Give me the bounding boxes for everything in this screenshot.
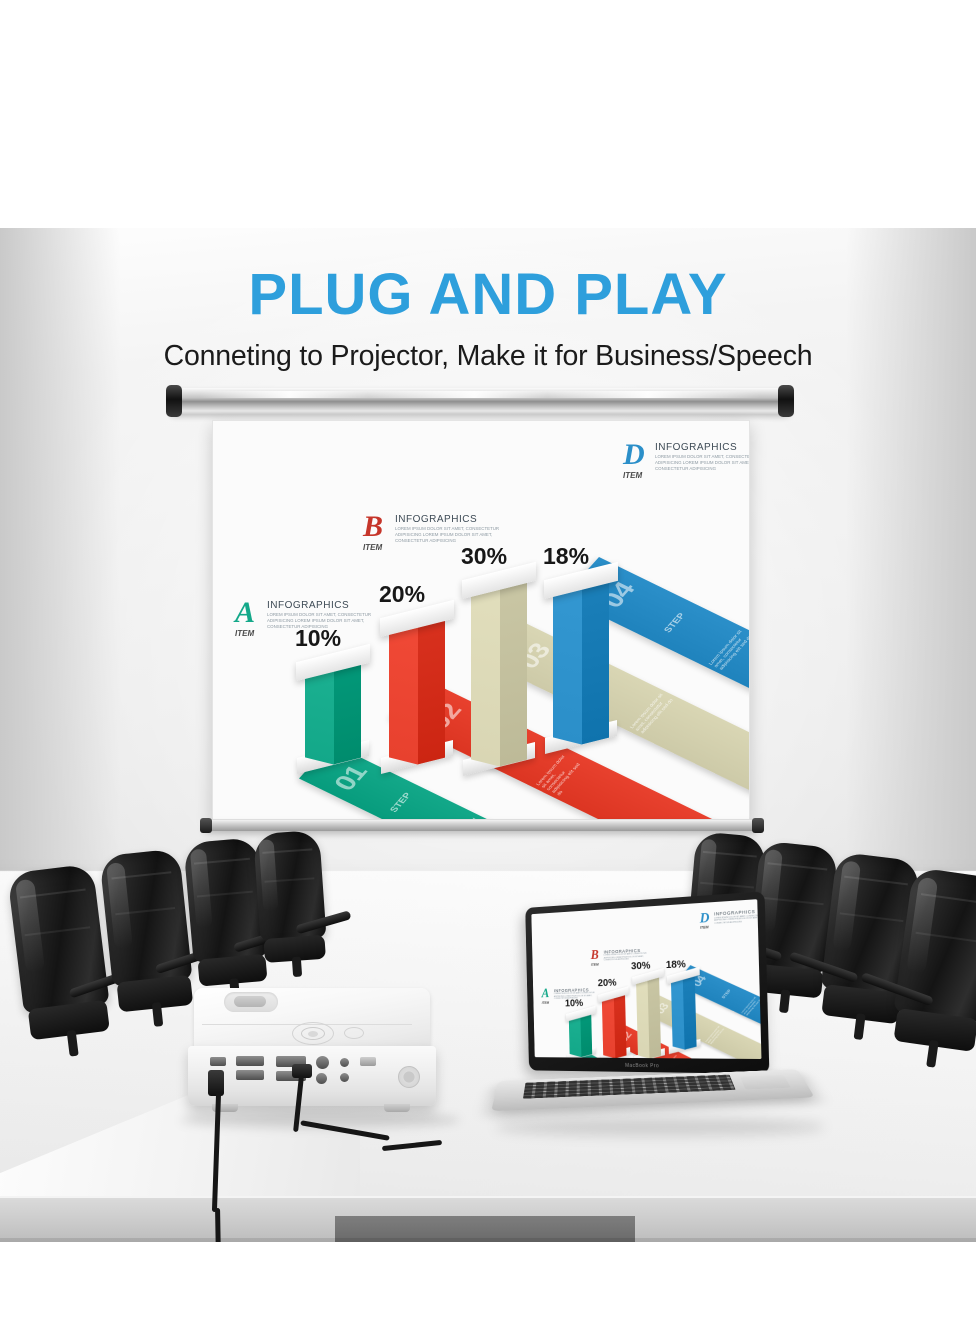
column-face-side — [614, 994, 627, 1058]
callout-letter: D — [700, 911, 710, 924]
roller-bar — [170, 388, 790, 414]
projector-menu-button[interactable] — [344, 1027, 364, 1039]
column-face-side — [334, 662, 361, 765]
roller-gloss — [200, 391, 760, 398]
infographic-on-laptop: 01STEPLorem ipsum dolor sit amet, consec… — [531, 899, 761, 1059]
bar-column-B — [602, 995, 626, 1056]
callout-letter: B — [591, 949, 599, 961]
column-face-side — [581, 1014, 593, 1058]
step-label: STEP — [719, 989, 731, 1000]
bar-column-D — [553, 583, 609, 741]
port-lan[interactable] — [360, 1057, 376, 1066]
bottom-white-band — [0, 1242, 976, 1331]
page-subtitle: Conneting to Projector, Make it for Busi… — [0, 340, 976, 373]
screen-bottom-cap-left — [200, 818, 212, 833]
port-hdmi[interactable] — [210, 1057, 226, 1066]
column-face-front — [553, 579, 582, 744]
callout-b: BITEMINFOGRAPHICSLOREM IPSUM DOLOR SIT A… — [363, 513, 523, 563]
roller-end-cap-right — [778, 385, 794, 417]
column-face-side — [582, 580, 609, 745]
port-vga-1[interactable] — [236, 1056, 264, 1066]
value-label-18pct: 18% — [666, 959, 686, 971]
callout-item-label: ITEM — [591, 962, 599, 966]
port-vga-2[interactable] — [236, 1070, 264, 1080]
projector-speaker — [398, 1066, 420, 1088]
callout-item-label: ITEM — [363, 543, 382, 552]
projection-screen-surface: 01STEPLorem ipsum dolor sit amet, consec… — [212, 420, 750, 820]
chair-backrest — [7, 863, 109, 1013]
bar-column-C — [636, 978, 662, 1058]
projector-power-button[interactable] — [308, 1031, 318, 1037]
port-audio-out[interactable] — [340, 1073, 349, 1082]
callout-body: LOREM IPSUM DOLOR SIT AMET, CONSECTETUR … — [554, 992, 598, 1001]
laptop-brand-label: MacBook Pro — [529, 1062, 769, 1071]
column-face-side — [683, 975, 697, 1049]
top-white-band — [0, 0, 976, 228]
projector-lens — [234, 996, 266, 1007]
column-face-side — [500, 580, 527, 767]
screen-bottom-bar — [204, 820, 758, 831]
callout-item-label: ITEM — [542, 1000, 549, 1004]
screen-bottom-cap-right — [752, 818, 764, 833]
callout-d: DITEMINFOGRAPHICSLOREM IPSUM DOLOR SIT A… — [700, 907, 762, 934]
step-body-text: Lorem ipsum dolor sit amet, consectetur … — [741, 996, 762, 1015]
callout-heading: INFOGRAPHICS — [395, 514, 477, 525]
callout-letter: D — [623, 441, 645, 468]
laptop-lid: 01STEPLorem ipsum dolor sit amet, consec… — [525, 891, 769, 1074]
callout-item-label: ITEM — [235, 629, 254, 638]
port-composite[interactable] — [316, 1073, 327, 1084]
laptop-screen[interactable]: 01STEPLorem ipsum dolor sit amet, consec… — [531, 899, 761, 1059]
projector-foot-right — [384, 1104, 410, 1112]
chair-highlight — [906, 876, 939, 974]
laptop-base — [491, 1069, 814, 1111]
column-face-front — [471, 579, 500, 766]
headline-block: PLUG AND PLAY Conneting to Projector, Ma… — [0, 266, 976, 373]
bar-column-D — [670, 977, 696, 1048]
callout-body: LOREM IPSUM DOLOR SIT AMET, CONSECTETUR … — [655, 454, 750, 472]
callout-body: LOREM IPSUM DOLOR SIT AMET, CONSECTETUR … — [604, 953, 651, 963]
roller-end-cap-left — [166, 385, 182, 417]
laptop-keyboard[interactable] — [523, 1075, 736, 1099]
conference-room-photo: PLUG AND PLAY Conneting to Projector, Ma… — [0, 228, 976, 1242]
callout-heading: INFOGRAPHICS — [655, 442, 737, 453]
chair-highlight — [832, 861, 861, 953]
callout-heading: INFOGRAPHICS — [267, 600, 349, 611]
bar-column-C — [471, 583, 527, 763]
step-body-text: Lorem ipsum dolor sit amet, consectetur … — [535, 752, 590, 797]
step-label: STEP — [662, 611, 687, 634]
step-body-text: Lorem ipsum dolor sit amet, consectetur … — [705, 1026, 726, 1045]
step-body-text: Lorem ipsum dolor sit amet, consectetur … — [708, 630, 750, 672]
column-face-side — [418, 618, 445, 765]
bar-column-A — [569, 1015, 592, 1056]
callout-d: DITEMINFOGRAPHICSLOREM IPSUM DOLOR SIT A… — [623, 441, 750, 491]
column-face-side — [648, 976, 661, 1059]
projector — [188, 988, 436, 1118]
value-label-18pct: 18% — [543, 543, 589, 570]
callout-a: AITEMINFOGRAPHICSLOREM IPSUM DOLOR SIT A… — [541, 986, 604, 1009]
laptop-trackpad[interactable] — [740, 1075, 791, 1089]
callout-a: AITEMINFOGRAPHICSLOREM IPSUM DOLOR SIT A… — [235, 599, 395, 649]
laptop: 01STEPLorem ipsum dolor sit amet, consec… — [505, 900, 805, 1150]
page-title: PLUG AND PLAY — [0, 266, 976, 324]
bar-column-A — [305, 665, 361, 761]
callout-letter: B — [363, 513, 383, 540]
infographic-projected: 01STEPLorem ipsum dolor sit amet, consec… — [213, 421, 749, 819]
product-marketing-image: PLUG AND PLAY Conneting to Projector, Ma… — [0, 0, 976, 1331]
callout-item-label: ITEM — [623, 471, 642, 480]
step-body-text: Lorem ipsum dolor sit amet, consectetur … — [628, 693, 674, 735]
callout-body: LOREM IPSUM DOLOR SIT AMET, CONSECTETUR … — [714, 914, 761, 925]
port-svideo[interactable] — [316, 1056, 329, 1069]
callout-letter: A — [235, 599, 255, 626]
bar-column-B — [389, 621, 445, 761]
step-body-text: Lorem ipsum dolor sit amet, consectetur … — [431, 809, 483, 820]
callout-body: LOREM IPSUM DOLOR SIT AMET, CONSECTETUR … — [267, 612, 379, 630]
port-audio-in[interactable] — [340, 1058, 349, 1067]
callout-item-label: ITEM — [700, 925, 709, 930]
step-label: STEP — [388, 791, 413, 814]
step-number: 01 — [327, 761, 374, 795]
callout-letter: A — [541, 988, 549, 1000]
callout-b: BITEMINFOGRAPHICSLOREM IPSUM DOLOR SIT A… — [591, 947, 658, 972]
callout-body: LOREM IPSUM DOLOR SIT AMET, CONSECTETUR … — [395, 526, 507, 544]
